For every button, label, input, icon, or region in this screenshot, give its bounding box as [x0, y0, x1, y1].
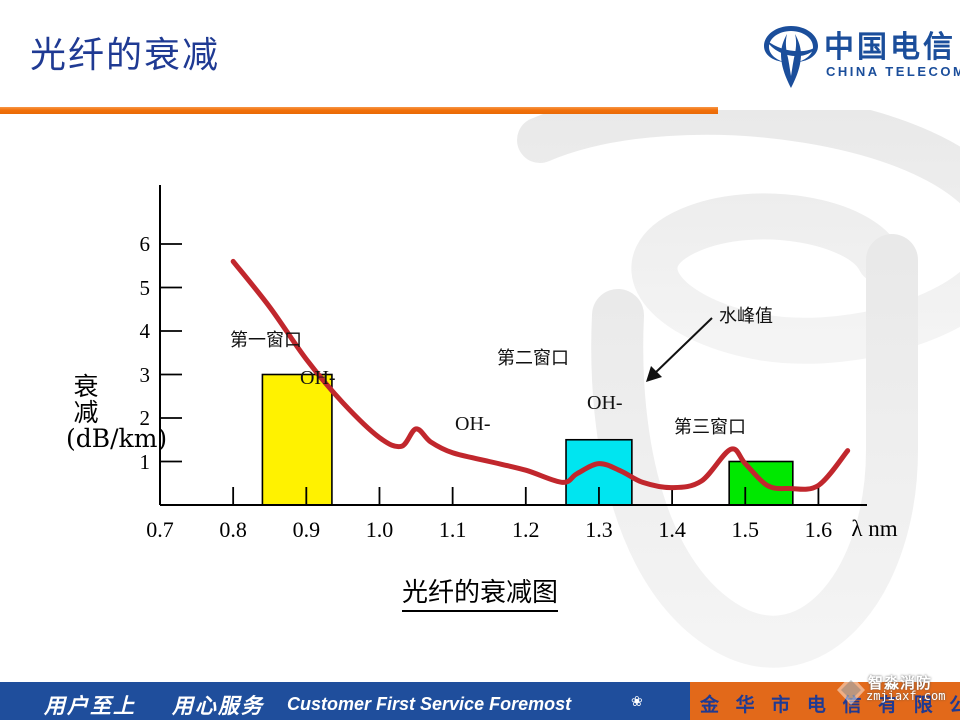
water-peak-arrow-line: [654, 318, 712, 374]
attenuation-plot-svg: [0, 130, 960, 570]
oh-annotation: OH-: [455, 413, 491, 436]
x-tick-label: 1.2: [500, 517, 552, 543]
y-tick-label: 3: [124, 363, 150, 388]
footer-slogan-en: Customer First Service Foremost: [287, 694, 571, 715]
y-axis-label: 衰减(dB/km): [66, 374, 106, 452]
footer-bullet-icon: ❀: [631, 694, 643, 710]
x-axis-unit-label: λ nm: [851, 516, 897, 542]
y-tick-label: 5: [124, 276, 150, 301]
logo-cn-text: 中国电信: [824, 22, 956, 66]
china-telecom-logo: 中国电信 CHINA TELECOM: [760, 18, 950, 100]
title-divider-rule: [0, 107, 718, 114]
y-tick-label: 6: [124, 232, 150, 257]
x-tick-label: 1.3: [573, 517, 625, 543]
footer-slogan-cn-1: 用户至上: [44, 690, 136, 720]
x-tick-label: 0.7: [134, 517, 186, 543]
watermark-diamond-icon: [836, 674, 866, 706]
china-telecom-swoosh-icon: [760, 18, 822, 90]
window-annotation: 第一窗口: [230, 326, 302, 352]
water-peak-arrow-group: [646, 318, 712, 382]
oh-annotation: OH-: [300, 367, 336, 390]
chart-caption-text: 光纤的衰减图: [402, 578, 558, 612]
x-tick-label: 0.9: [280, 517, 332, 543]
x-tick-label: 1.5: [719, 517, 771, 543]
x-tick-label: 0.8: [207, 517, 259, 543]
logo-en-text: CHINA TELECOM: [826, 64, 960, 79]
chart-caption: 光纤的衰减图: [0, 572, 960, 609]
y-tick-label: 4: [124, 319, 150, 344]
window-annotation: 第二窗口: [497, 344, 569, 370]
y-tick-label: 2: [124, 406, 150, 431]
window-annotation: 水峰值: [719, 302, 773, 328]
footer-slogan-cn-2: 用心服务: [172, 690, 264, 720]
page-title: 光纤的衰减: [30, 26, 220, 78]
window-bars-group: [262, 375, 792, 506]
slide-canvas: 光纤的衰减 中国电信 CHINA TELECOM 衰减(dB/km) 12345…: [0, 0, 960, 720]
y-tick-label: 1: [124, 450, 150, 475]
oh-annotation: OH-: [587, 392, 623, 415]
window-bar-1: [262, 375, 332, 506]
watermark-url: zmjiaxf.com: [866, 689, 945, 703]
attenuation-chart: 衰减(dB/km) 123456 0.70.80.91.01.11.21.31.…: [0, 130, 960, 570]
x-tick-label: 1.1: [427, 517, 479, 543]
x-tick-label: 1.6: [792, 517, 844, 543]
window-annotation: 第三窗口: [674, 413, 746, 439]
x-tick-label: 1.0: [353, 517, 405, 543]
x-tick-label: 1.4: [646, 517, 698, 543]
site-watermark: 智淼消防 zmjiaxf.com: [846, 672, 956, 712]
